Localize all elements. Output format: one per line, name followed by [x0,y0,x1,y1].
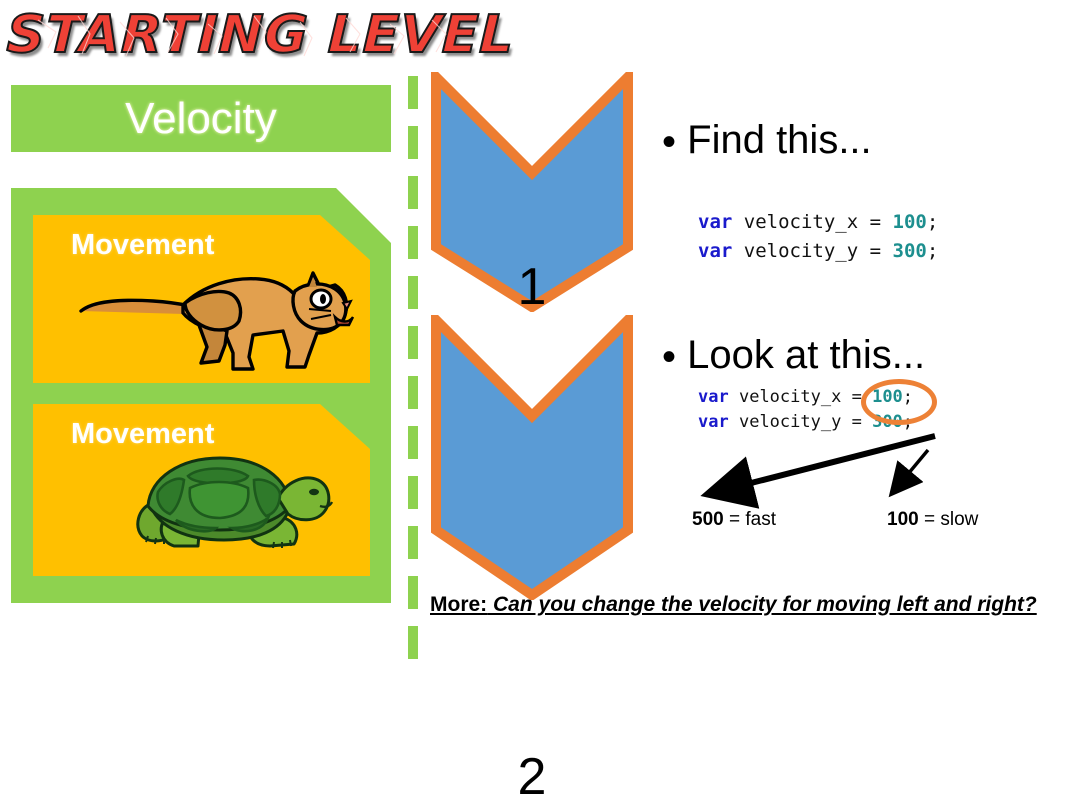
code-number: 300 [893,240,927,262]
movement-panel: Movement [11,188,391,603]
code-snippet-original: var velocity_x = 100; var velocity_y = 3… [698,208,938,266]
movement-card-cat[interactable]: Movement [33,215,370,383]
bullet-find-this: • Find this... [662,118,872,165]
chevron-down-icon [431,315,633,600]
section-divider-dashed [408,76,418,661]
bullet-text: Find this... [687,118,872,162]
code-operator: = [870,211,881,233]
code-operator: = [852,412,862,432]
note-fast-label: fast [745,509,776,530]
code-keyword: var [698,412,729,432]
code-keyword: var [698,240,732,262]
note-slow-value: 100 [887,509,919,530]
arrow-to-fast-icon [712,436,935,493]
step-chevron-1[interactable]: 1 [431,72,633,312]
note-slow: 100 = slow [887,509,978,531]
bullet-look-at-this: • Look at this... [662,333,925,380]
note-fast: 500 = fast [692,509,776,531]
note-slow-label: slow [940,509,978,530]
code-keyword: var [698,387,729,407]
code-identifier: velocity_y [744,240,858,262]
bullet-point-icon: • [662,335,676,379]
note-slow-eq: = [919,509,941,530]
step-chevron-number: 2 [431,747,633,807]
code-keyword: var [698,211,732,233]
slide-title-text: STARTING LEVEL [6,4,488,70]
code-semicolon: ; [927,240,938,262]
bullet-point-icon: • [662,120,676,164]
bullet-text: Look at this... [687,333,925,377]
arrow-to-slow-icon [893,450,928,492]
code-identifier: velocity_x [744,211,858,233]
note-fast-value: 500 [692,509,724,530]
code-semicolon: ; [927,211,938,233]
code-identifier: velocity_y [739,412,841,432]
slide-title-logo: STARTING LEVEL [8,4,478,70]
slide-canvas: STARTING LEVEL Velocity Movement [0,0,1082,661]
step-chevron-2[interactable]: 2 [431,315,633,600]
velocity-header-bar: Velocity [11,85,391,152]
more-question: Can you change the velocity for moving l… [487,593,1037,616]
step-chevron-number: 1 [431,257,633,317]
movement-card-label: Movement [71,418,214,451]
turtle-icon [128,442,343,567]
code-operator: = [870,240,881,262]
code-number: 100 [893,211,927,233]
note-fast-eq: = [724,509,746,530]
more-challenge-line: More: Can you change the velocity for mo… [430,593,1070,617]
highlight-ellipse-annotation [861,379,937,425]
code-identifier: velocity_x [739,387,841,407]
movement-card-label: Movement [71,229,214,262]
movement-card-turtle[interactable]: Movement [33,404,370,576]
more-label: More: [430,593,487,616]
velocity-header-label: Velocity [11,85,391,152]
